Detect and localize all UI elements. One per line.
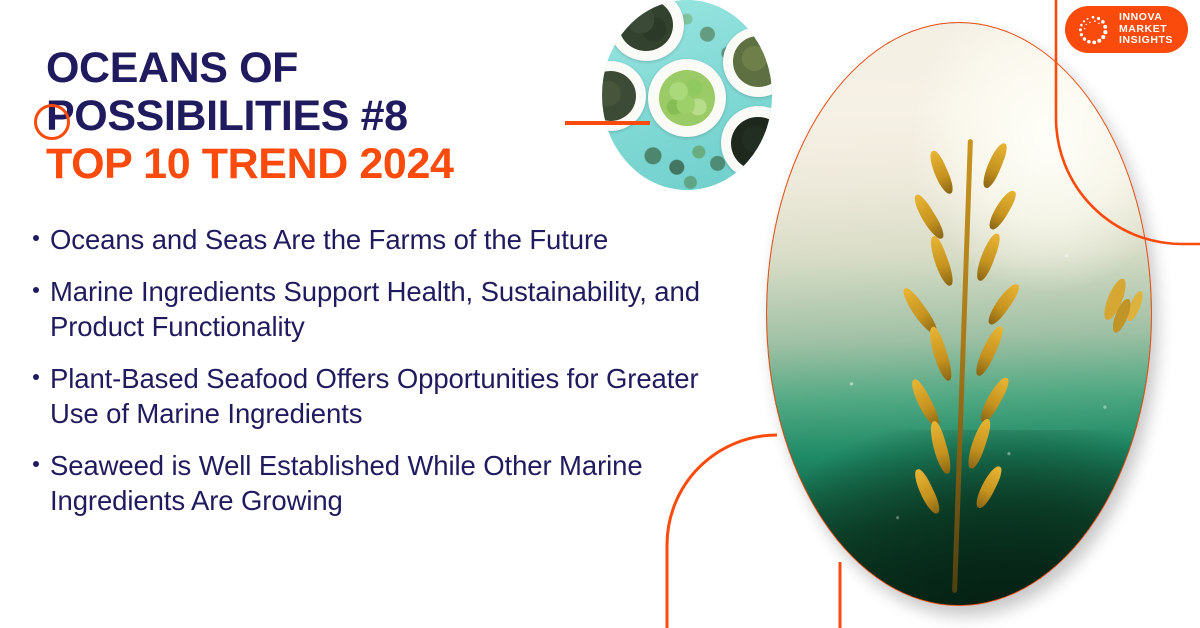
logo-wordmark: INNOVA MARKET INSIGHTS [1119,12,1173,47]
list-item: Plant-Based Seafood Offers Opportunities… [24,361,754,431]
bullet-point-icon [24,222,50,241]
list-item-label: Marine Ingredients Support Health, Susta… [50,274,754,344]
title-line-1: OCEANS OF [46,44,566,92]
list-item: Oceans and Seas Are the Farms of the Fut… [24,222,754,257]
circle-annotation-marker [34,104,70,140]
list-item: Marine Ingredients Support Health, Susta… [24,274,754,344]
logo-line-1: INNOVA [1119,12,1173,24]
trend-bullet-list: Oceans and Seas Are the Farms of the Fut… [24,222,754,535]
logo-line-3: INSIGHTS [1119,35,1173,47]
water-particles [767,23,1151,605]
list-item-label: Oceans and Seas Are the Farms of the Fut… [50,222,754,257]
infographic-canvas: OCEANS OF POSSIBILITIES #8 TOP 10 TREND … [0,0,1200,628]
list-item-label: Seaweed is Well Established While Other … [50,448,754,518]
bullet-point-icon [24,361,50,380]
title-line-2: POSSIBILITIES #8 [46,92,566,140]
seaweed-bowls-photo [602,0,772,190]
innova-market-insights-logo[interactable]: INNOVA MARKET INSIGHTS [1065,6,1188,53]
bullet-point-icon [24,448,50,467]
dot-ring-icon [1076,13,1110,47]
bullet-point-icon [24,274,50,293]
page-title: OCEANS OF POSSIBILITIES #8 TOP 10 TREND … [46,44,566,188]
list-item: Seaweed is Well Established While Other … [24,448,754,518]
underwater-kelp-photo [766,22,1152,606]
title-line-3: TOP 10 TREND 2024 [46,140,566,188]
seaweed-bowl [648,59,726,137]
list-item-label: Plant-Based Seafood Offers Opportunities… [50,361,754,431]
